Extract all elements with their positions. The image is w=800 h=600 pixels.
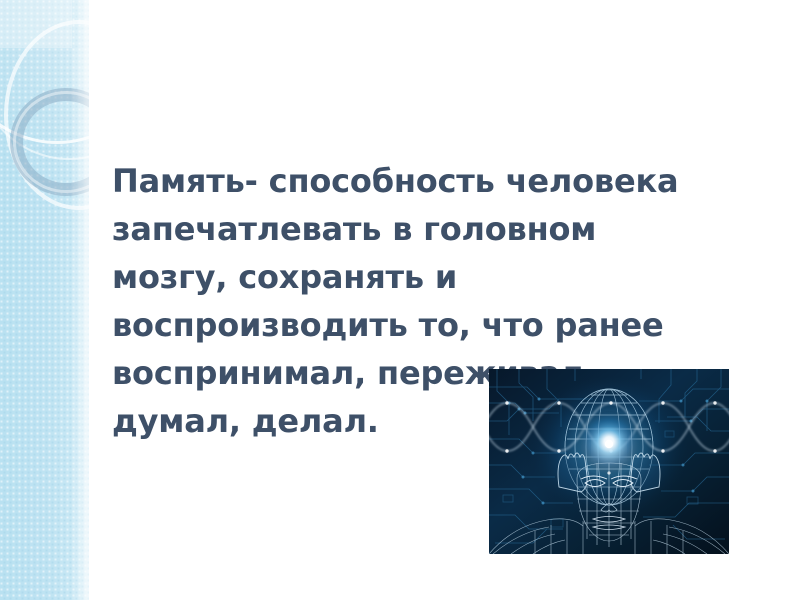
brain-technology-image-inner [489,369,729,554]
wireframe-head-illustration [489,369,729,554]
slide-canvas: Память- способность человека запечатлева… [0,0,800,600]
band-edge-fade [70,0,106,600]
brain-technology-image [489,369,729,554]
